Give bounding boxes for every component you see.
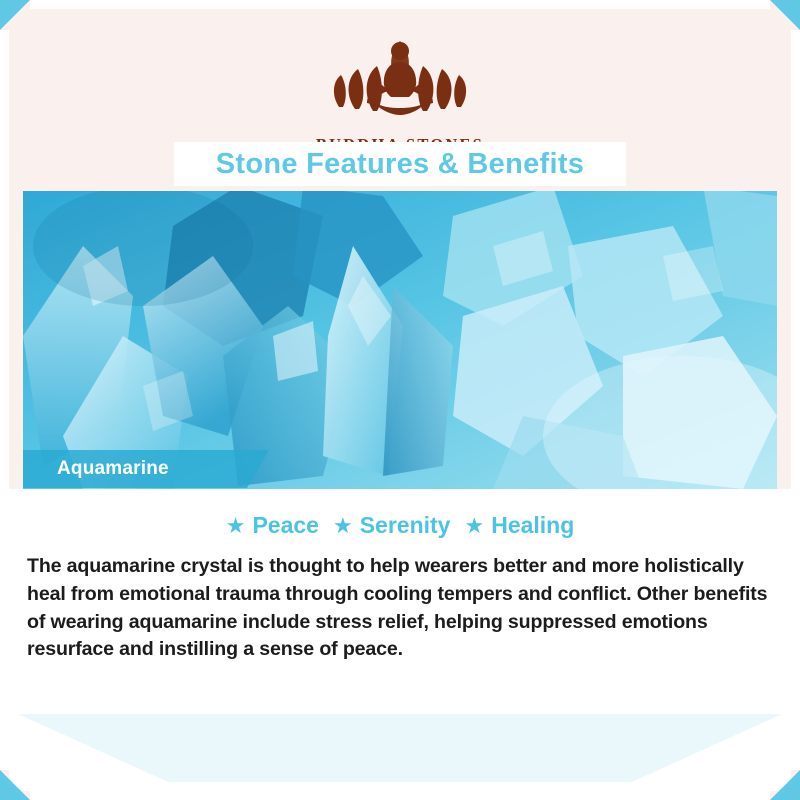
content-panel: ★ Peace ★ Serenity ★ Healing The aquamar…	[9, 489, 791, 791]
description-paragraph: The aquamarine crystal is thought to hel…	[27, 553, 773, 664]
page-title: Stone Features & Benefits	[216, 148, 584, 181]
keyword-label: Healing	[491, 512, 574, 539]
hero-caption: Aquamarine	[57, 458, 169, 480]
hero-caption-notch	[247, 450, 269, 488]
hero-image	[23, 186, 777, 489]
frame-edge-top	[30, 0, 770, 9]
keyword-item-serenity: ★ Serenity	[333, 512, 451, 539]
poster-page: BUDDHA STONES Stone Features & Benefits	[0, 0, 800, 800]
lotus-meditation-figure-icon	[325, 29, 475, 129]
keyword-item-healing: ★ Healing	[464, 512, 574, 539]
frame-edge-bottom	[30, 791, 770, 800]
keyword-list: ★ Peace ★ Serenity ★ Healing	[9, 512, 791, 539]
frame-edge-right	[791, 30, 800, 770]
corner-accent-bottom-left	[0, 770, 30, 800]
star-icon: ★	[226, 515, 246, 537]
corner-accent-top-right	[770, 0, 800, 30]
star-icon: ★	[464, 515, 484, 537]
star-icon: ★	[333, 515, 353, 537]
keyword-label: Serenity	[360, 512, 451, 539]
keyword-label: Peace	[252, 512, 319, 539]
hero-caption-band: Aquamarine	[23, 450, 247, 488]
corner-accent-top-left	[0, 0, 30, 30]
frame-edge-left	[0, 30, 9, 770]
bottom-band-left-notch	[18, 714, 168, 782]
brand-logo: BUDDHA STONES	[316, 29, 484, 155]
bottom-accent-band	[18, 714, 782, 782]
corner-accent-bottom-right	[770, 770, 800, 800]
keyword-item-peace: ★ Peace	[226, 512, 319, 539]
bottom-band-right-notch	[632, 714, 782, 782]
page-title-band: Stone Features & Benefits	[174, 142, 626, 186]
